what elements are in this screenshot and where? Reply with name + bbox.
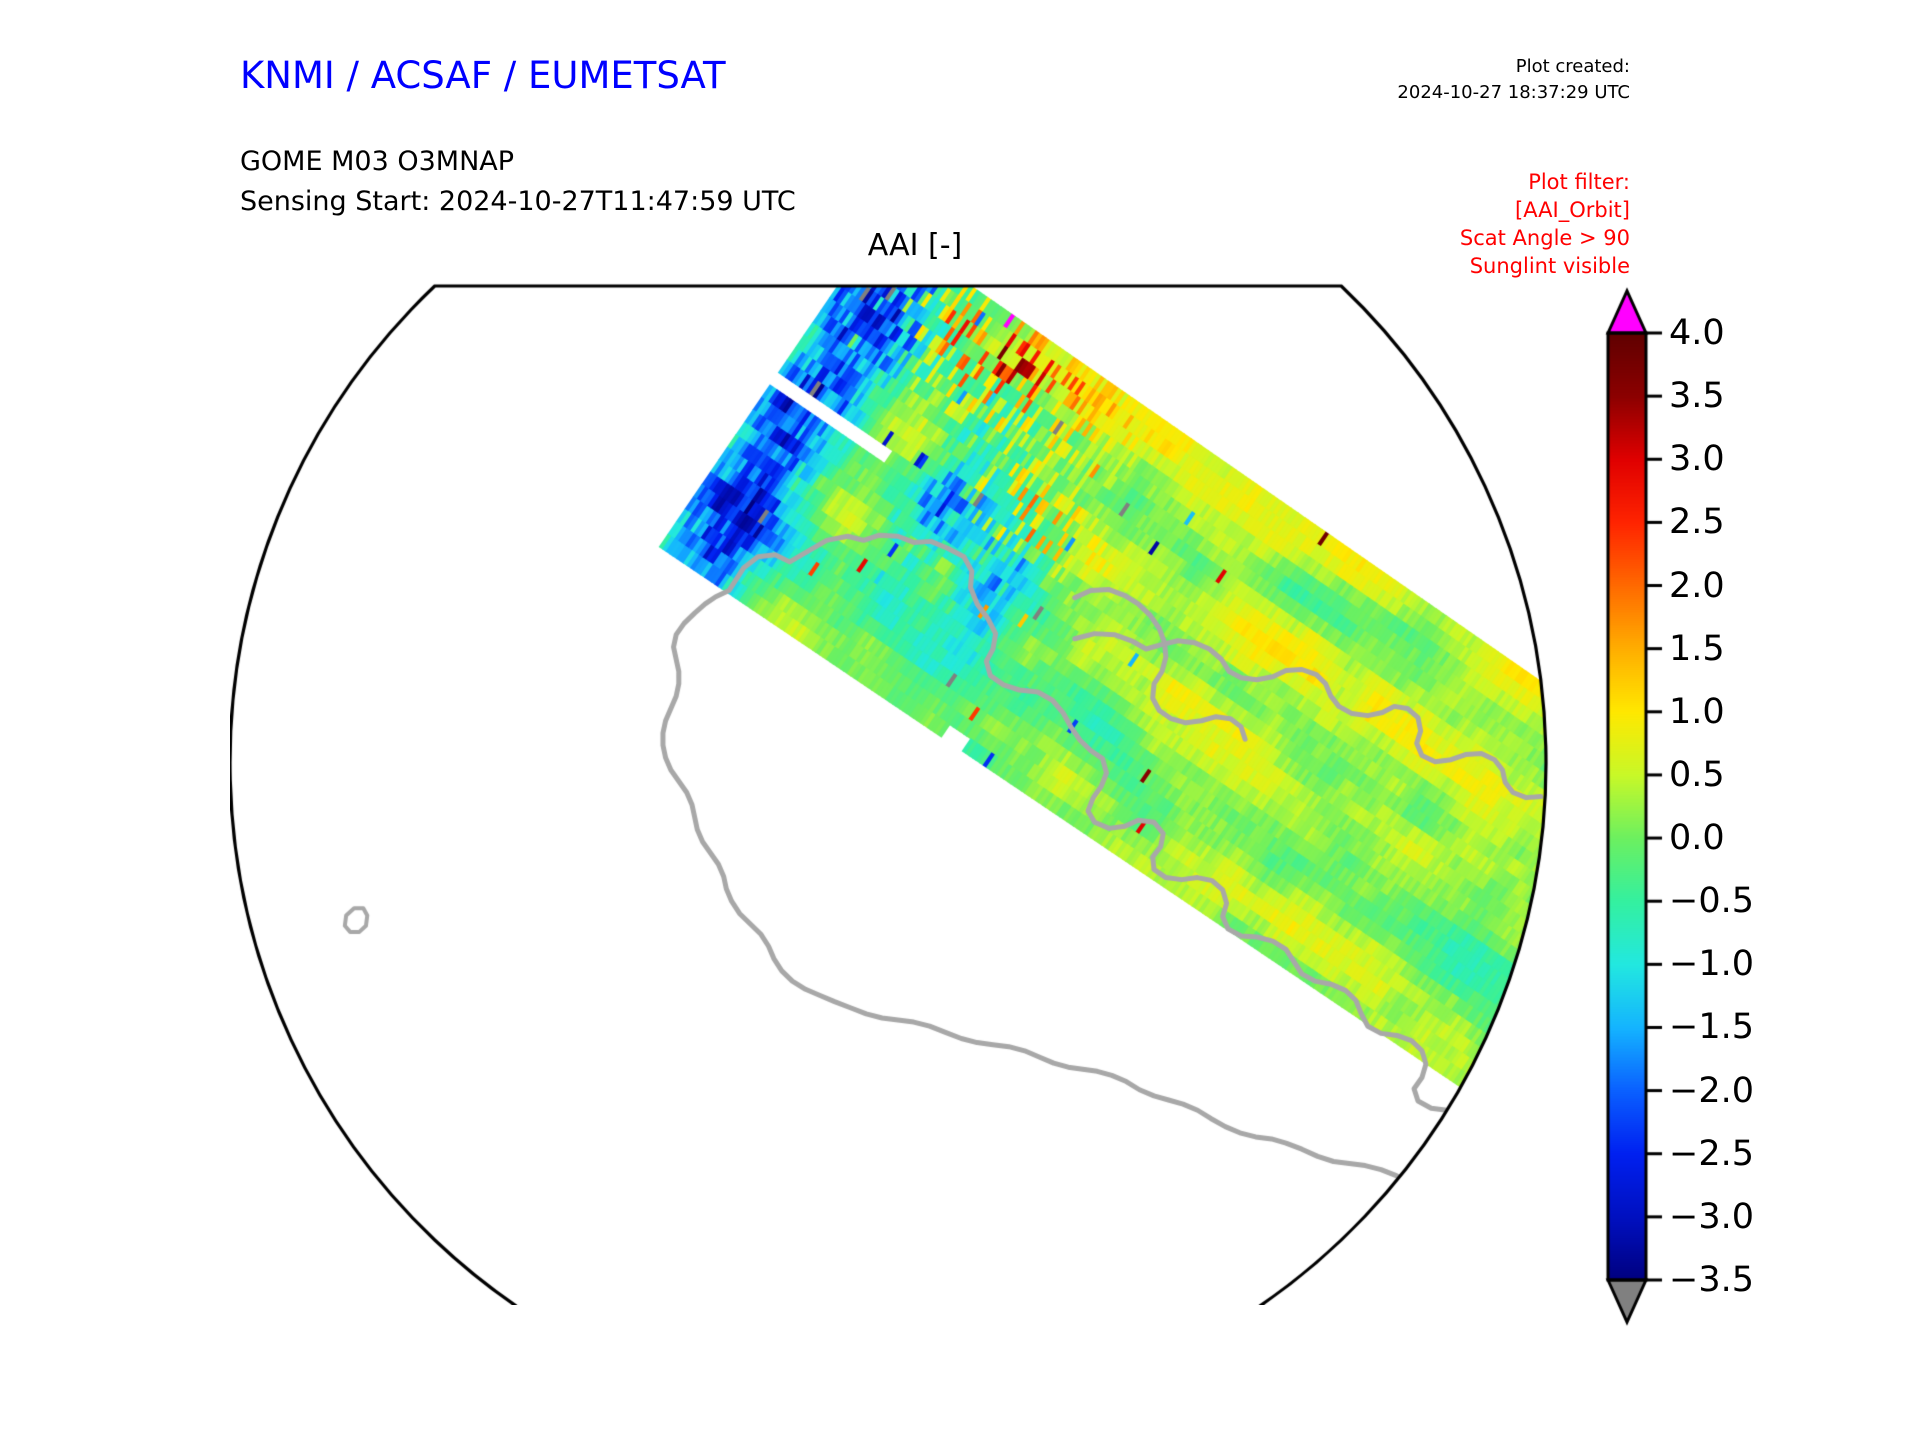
colorbar-tick-label: −0.5 [1669,881,1754,921]
colorbar-tick-label: −1.0 [1669,944,1754,984]
plot-created-block: Plot created: 2024-10-27 18:37:29 UTC [1397,54,1630,106]
colorbar-tick-label: 2.5 [1669,502,1725,542]
plot-filter-line-0: Plot filter: [1460,168,1630,196]
colorbar-tick-label: 0.0 [1669,818,1725,858]
sensing-start: Sensing Start: 2024-10-27T11:47:59 UTC [240,182,796,222]
plot-created-label: Plot created: [1397,54,1630,80]
map-title: AAI [-] [0,228,1830,263]
colorbar-tick-label: 3.0 [1669,439,1725,479]
plot-created-value: 2024-10-27 18:37:29 UTC [1397,80,1630,106]
colorbar-tick-label: 1.5 [1669,629,1725,669]
product-name: GOME M03 O3MNAP [240,142,796,182]
product-info-block: GOME M03 O3MNAP Sensing Start: 2024-10-2… [240,142,796,222]
colorbar-tick-label: −2.0 [1669,1071,1754,1111]
colorbar-tick-label: −2.5 [1669,1134,1754,1174]
colorbar-tick-label: −3.0 [1669,1197,1754,1237]
colorbar-tick-label: 1.0 [1669,692,1725,732]
colorbar-tick-label: 0.5 [1669,755,1725,795]
plot-filter-block: Plot filter: [AAI_Orbit] Scat Angle > 90… [1460,168,1630,280]
colorbar-gradient [1595,280,1920,1340]
colorbar-tick-label: −3.5 [1669,1260,1754,1300]
aai-swath-map [230,280,1550,1305]
colorbar: 4.03.53.02.52.01.51.00.50.0−0.5−1.0−1.5−… [1595,280,1920,1340]
org-title: KNMI / ACSAF / EUMETSAT [240,54,726,97]
colorbar-tick-label: 3.5 [1669,376,1725,416]
colorbar-tick-label: 4.0 [1669,313,1725,353]
plot-filter-line-1: [AAI_Orbit] [1460,196,1630,224]
colorbar-tick-label: 2.0 [1669,566,1725,606]
colorbar-tick-label: −1.5 [1669,1007,1754,1047]
map-plot-area [230,280,1550,1305]
